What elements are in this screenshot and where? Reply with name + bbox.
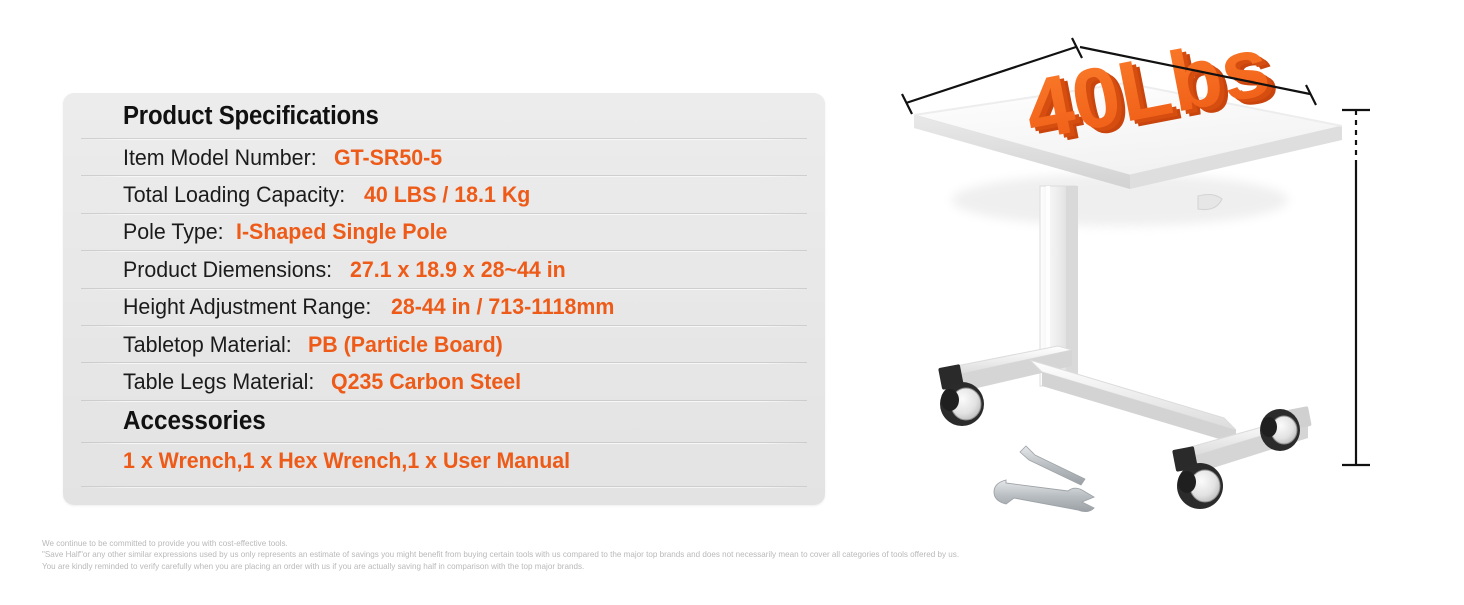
- page-title: Product Specifications: [123, 102, 379, 131]
- caster-wheel: [940, 382, 984, 426]
- spec-label-total-loading-capacity: Total Loading Capacity:: [123, 182, 345, 208]
- spec-row: Item Model Number: GT-SR50-5: [63, 139, 825, 176]
- spec-value-product-diemensions: 27.1 x 18.9 x 28~44 in: [350, 257, 566, 283]
- spec-row: Table Legs Material: Q235 Carbon Steel: [63, 363, 825, 400]
- spec-row: Height Adjustment Range: 28-44 in / 713-…: [63, 289, 825, 326]
- accessories-list: 1 x Wrench,1 x Hex Wrench,1 x User Manua…: [123, 448, 570, 474]
- accessories-value-row: 1 x Wrench,1 x Hex Wrench,1 x User Manua…: [63, 443, 825, 480]
- disclaimer-line-1: We continue to be committed to provide y…: [42, 538, 1132, 549]
- panel-bottom-divider: [81, 487, 807, 488]
- spec-panel-title-row: Product Specifications: [63, 93, 825, 139]
- spec-row-list: Product Specifications Item Model Number…: [63, 93, 825, 505]
- spec-row: Pole Type: I-Shaped Single Pole: [63, 214, 825, 251]
- spec-label-pole-type: Pole Type:: [123, 219, 224, 245]
- spec-label-height-adjustment-range: Height Adjustment Range:: [123, 294, 371, 320]
- spec-value-item-model-number: GT-SR50-5: [334, 145, 442, 171]
- disclaimer-line-2: "Save Half"or any other similar expressi…: [42, 549, 1132, 560]
- spec-value-tabletop-material: PB (Particle Board): [308, 332, 503, 358]
- spec-value-pole-type: I-Shaped Single Pole: [236, 219, 447, 245]
- spec-value-height-adjustment-range: 28-44 in / 713-1118mm: [391, 294, 614, 320]
- caster-wheel: [1260, 409, 1300, 451]
- center-spine-beam: [1030, 360, 1236, 430]
- spec-label-tabletop-material: Tabletop Material:: [123, 332, 292, 358]
- accessories-heading: Accessories: [123, 407, 266, 436]
- spec-label-item-model-number: Item Model Number:: [123, 145, 317, 171]
- base-frame: [938, 346, 1312, 474]
- disclaimer-text: We continue to be committed to provide y…: [42, 538, 1132, 572]
- spec-label-product-diemensions: Product Diemensions:: [123, 257, 332, 283]
- spec-row: Tabletop Material: PB (Particle Board): [63, 326, 825, 363]
- caster-wheel: [1177, 463, 1223, 509]
- spec-value-total-loading-capacity: 40 LBS / 18.1 Kg: [364, 182, 530, 208]
- open-end-wrench-icon: [994, 480, 1094, 512]
- accessories-title-row: Accessories: [63, 401, 825, 443]
- standing-desk-drawing: 40Lbs 40Lbs 40Lbs: [880, 0, 1464, 600]
- product-illustration: 40Lbs 40Lbs 40Lbs: [880, 0, 1464, 600]
- spec-row: Total Loading Capacity: 40 LBS / 18.1 Kg: [63, 176, 825, 213]
- product-specifications-panel: Product Specifications Item Model Number…: [63, 93, 825, 505]
- hex-wrench-icon: [1020, 446, 1085, 485]
- spec-label-table-legs-material: Table Legs Material:: [123, 369, 314, 395]
- spec-row: Product Diemensions: 27.1 x 18.9 x 28~44…: [63, 251, 825, 288]
- spec-value-table-legs-material: Q235 Carbon Steel: [331, 369, 521, 395]
- disclaimer-line-3: You are kindly reminded to verify carefu…: [42, 561, 1132, 572]
